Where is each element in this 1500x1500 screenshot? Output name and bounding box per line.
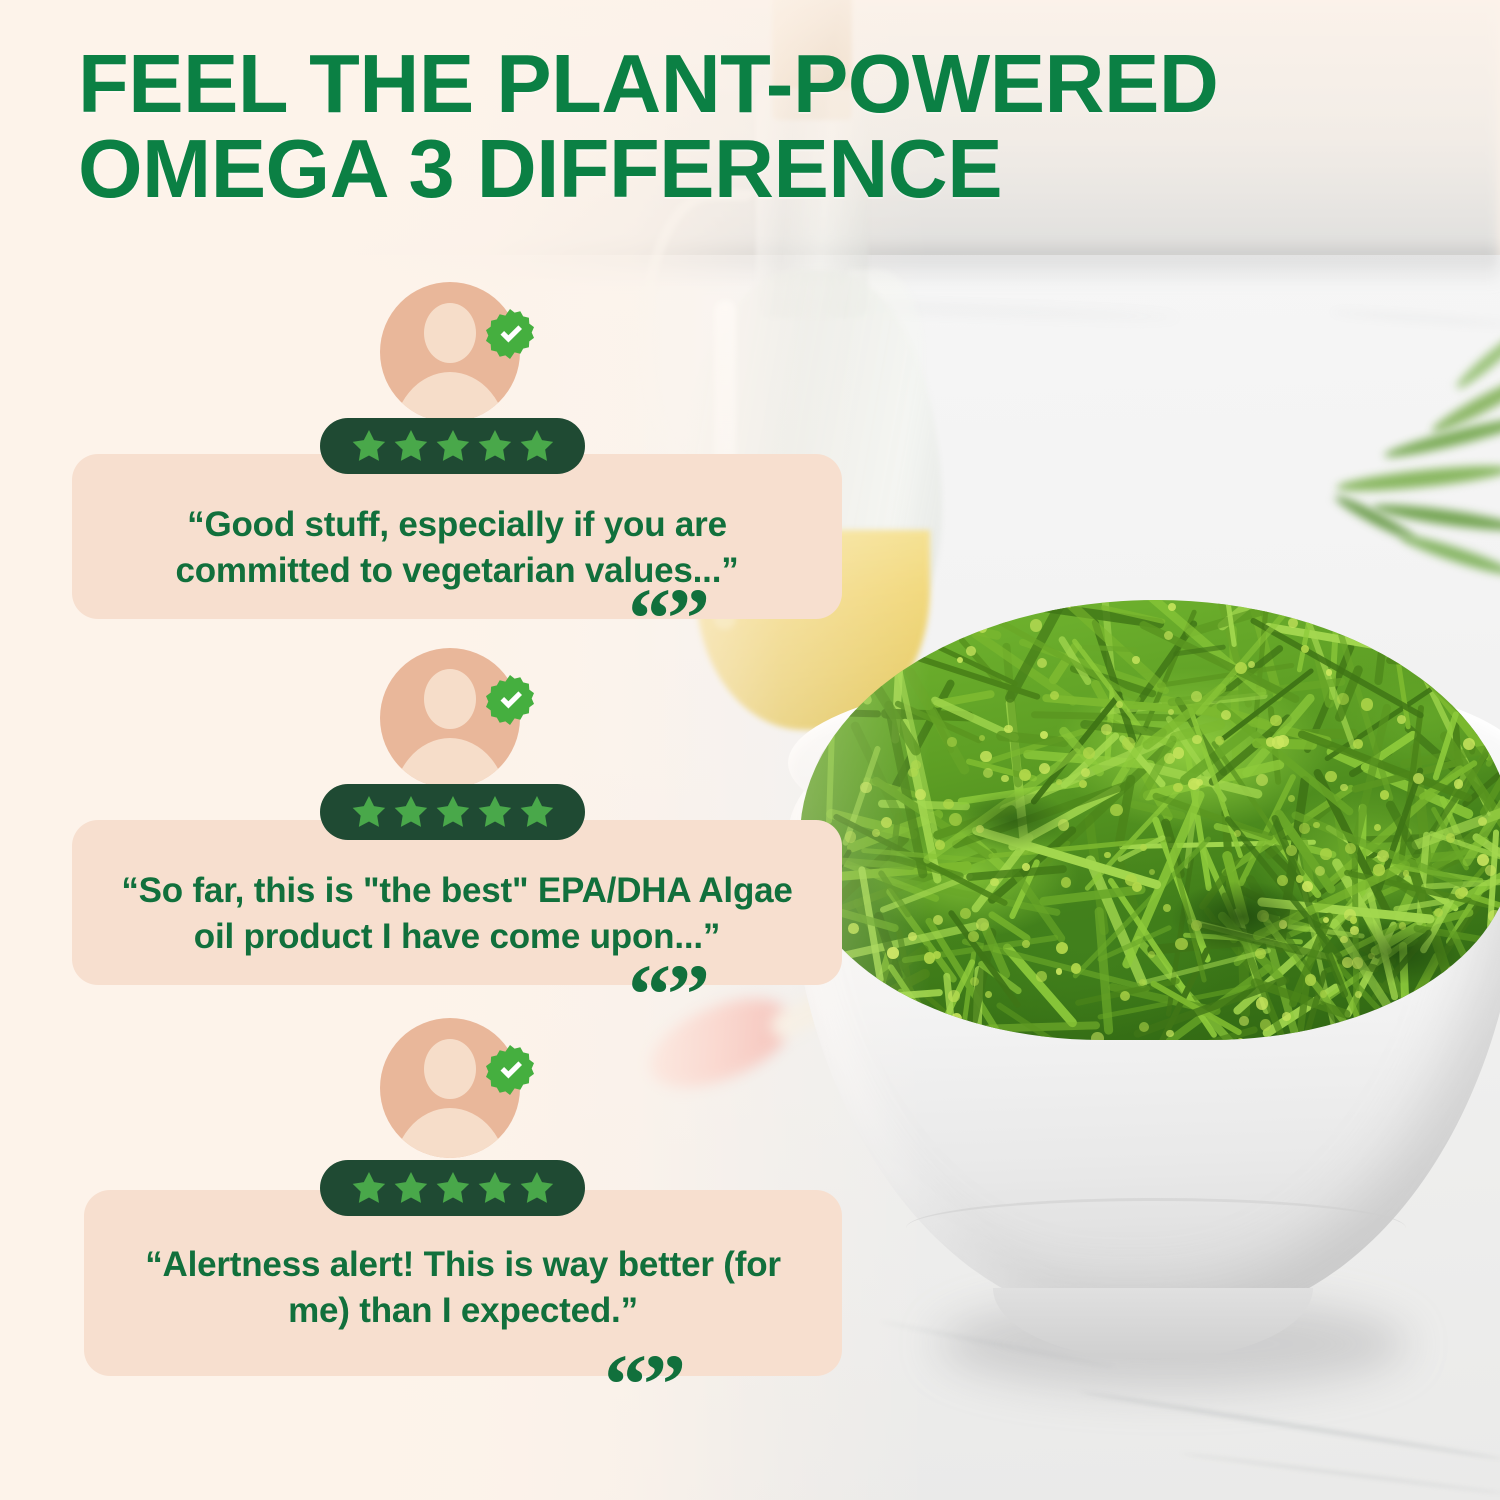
quote-mark-icon: “” xyxy=(628,595,706,642)
sea-bean-bud xyxy=(911,760,921,770)
sea-bean-bud xyxy=(1350,916,1357,923)
sea-bean-bud xyxy=(985,991,992,998)
sea-bean-bud xyxy=(1454,779,1464,789)
sea-bean-bud xyxy=(1237,1038,1244,1040)
avatar-head-shape xyxy=(424,1039,476,1099)
sea-bean-bud xyxy=(1239,1016,1249,1026)
star-icon xyxy=(475,792,515,832)
sea-bean-bud xyxy=(857,680,868,691)
sea-bean-bud xyxy=(1056,942,1068,954)
promo-canvas: FEEL THE PLANT-POWERED OMEGA 3 DIFFERENC… xyxy=(0,0,1500,1500)
avatar-head-shape xyxy=(424,303,476,363)
sea-bean-bud xyxy=(1104,852,1110,858)
sea-bean-bud xyxy=(957,657,963,663)
star-icon xyxy=(475,426,515,466)
star-icon xyxy=(349,792,389,832)
sea-bean-bud xyxy=(968,931,979,942)
sea-bean-bud xyxy=(1016,604,1025,613)
sea-bean-bud xyxy=(1320,990,1327,997)
sea-bean-bud xyxy=(1277,875,1288,886)
star-icon xyxy=(433,1168,473,1208)
review-quote-text: “Alertness alert! This is way better (fo… xyxy=(118,1242,808,1333)
sea-bean-bud xyxy=(1139,1022,1149,1032)
star-icon xyxy=(475,1168,515,1208)
sea-bean-bud xyxy=(1166,1030,1174,1038)
sea-bean-bud xyxy=(1173,783,1183,793)
sea-bean-bud xyxy=(1288,795,1295,802)
sea-bean-bud xyxy=(1373,864,1384,875)
sea-bean-bud xyxy=(1345,843,1356,854)
sea-bean-bud xyxy=(846,667,858,679)
sea-bean-bud xyxy=(1374,824,1382,832)
sea-bean-bud xyxy=(1403,870,1409,876)
sea-bean-bud xyxy=(1173,747,1185,759)
sea-bean-bud xyxy=(848,923,858,933)
sea-bean-bud xyxy=(1221,710,1231,720)
sea-bean-bud xyxy=(1399,922,1406,929)
sea-bean-bud xyxy=(880,1021,890,1031)
sea-bean-bud xyxy=(1079,780,1087,788)
star-icon xyxy=(517,1168,557,1208)
sea-bean-bud xyxy=(1256,997,1268,1009)
sea-bean-bud xyxy=(1266,737,1276,747)
sea-bean-bud xyxy=(1163,904,1171,912)
sea-bean-bud xyxy=(1056,968,1062,974)
sea-bean-bud xyxy=(1321,1035,1331,1040)
sea-bean-bud xyxy=(1377,850,1389,862)
sea-bean-bud xyxy=(1235,662,1247,674)
sea-bean-bud xyxy=(1061,877,1071,887)
star-icon xyxy=(433,792,473,832)
quote-card: “Alertness alert! This is way better (fo… xyxy=(84,1190,842,1376)
quote-mark-icon: “” xyxy=(604,1361,682,1408)
star-icon xyxy=(349,1168,389,1208)
sea-bean-bud xyxy=(887,947,898,958)
sea-bean-bud xyxy=(935,840,945,850)
sea-bean-bud xyxy=(1022,940,1030,948)
sea-bean-bud xyxy=(1337,693,1349,705)
sea-bean-bud xyxy=(1139,979,1146,986)
quote-card: “Good stuff, especially if you are commi… xyxy=(72,454,842,619)
sea-bean-bud xyxy=(933,915,943,925)
sea-bean-bud xyxy=(1478,817,1487,826)
sea-bean-bud xyxy=(1001,775,1008,782)
sea-bean-bud xyxy=(872,829,880,837)
sea-bean-bud xyxy=(1030,619,1043,632)
quote-mark-icon: “” xyxy=(628,971,706,1018)
sea-bean-bud xyxy=(1350,926,1359,935)
sea-bean-bud xyxy=(1066,601,1073,608)
bottle-handle xyxy=(640,190,758,480)
sea-bean-bud xyxy=(1417,1036,1424,1040)
sea-bean-bud xyxy=(1040,731,1048,739)
sea-bean-bud xyxy=(1446,670,1454,678)
sea-bean-bud xyxy=(1340,936,1347,943)
star-icon xyxy=(433,426,473,466)
sea-bean-bud xyxy=(1132,656,1140,664)
sea-bean-bud xyxy=(1081,768,1090,777)
sea-bean-bud xyxy=(1409,646,1418,655)
sea-bean-bud xyxy=(1325,771,1337,783)
sea-bean-bud xyxy=(966,646,976,656)
sea-bean-bud xyxy=(1340,1027,1348,1035)
sea-bean-bud xyxy=(1361,698,1374,711)
sea-bean-bud xyxy=(924,952,936,964)
sea-bean-bud xyxy=(860,782,871,793)
sea-bean-bud xyxy=(1356,618,1365,627)
sea-bean-bud xyxy=(1481,691,1494,704)
sea-bean-bud xyxy=(1058,819,1070,831)
sea-bean-bud xyxy=(980,751,992,763)
sea-bean-bud xyxy=(1353,739,1362,748)
avatar xyxy=(380,648,520,788)
sea-bean-bud xyxy=(806,739,816,749)
sea-bean-bud xyxy=(1037,658,1047,668)
sea-bean-bud xyxy=(1022,863,1030,871)
sea-bean-bud xyxy=(1110,804,1123,817)
sea-bean-bud xyxy=(1019,769,1031,781)
sea-bean-bud xyxy=(920,646,929,655)
star-icon xyxy=(391,792,431,832)
sea-bean-bud xyxy=(1122,737,1135,750)
sea-bean-bud xyxy=(1282,1012,1291,1021)
sea-bean-bud xyxy=(1355,991,1362,998)
sea-bean-bud xyxy=(891,618,899,626)
sea-bean-bud xyxy=(1352,957,1363,968)
sea-bean-bud xyxy=(845,831,856,842)
sea-bean-bud xyxy=(1302,881,1313,892)
star-icon xyxy=(517,426,557,466)
headline-line-2: OMEGA 3 DIFFERENCE xyxy=(78,127,1478,212)
sea-bean-bud xyxy=(1299,823,1310,834)
sea-bean-bud xyxy=(1313,822,1320,829)
sea-bean-bud xyxy=(948,990,960,1002)
avatar-shoulders-shape xyxy=(392,372,508,422)
sea-bean-bud xyxy=(1004,725,1012,733)
sea-bean-bud xyxy=(1140,844,1147,851)
sea-bean-bud xyxy=(983,768,993,778)
sea-bean-bud xyxy=(1192,735,1201,744)
avatar-shoulders-shape xyxy=(392,738,508,788)
verified-check-icon xyxy=(484,1044,536,1096)
sea-bean-bud xyxy=(1260,1019,1271,1030)
sea-bean-bud xyxy=(1488,910,1500,922)
sea-bean-bud xyxy=(960,908,971,919)
sea-bean-bud xyxy=(947,737,956,746)
verified-check-icon xyxy=(484,308,536,360)
sea-bean-bud xyxy=(1305,974,1317,986)
sea-bean-bud xyxy=(1091,1032,1104,1040)
sea-bean-bud xyxy=(800,673,812,685)
headline-line-1: FEEL THE PLANT-POWERED xyxy=(78,37,1218,130)
sea-bean-bud xyxy=(891,991,900,1000)
star-icon xyxy=(391,1168,431,1208)
sea-bean-bud xyxy=(949,813,962,826)
sea-bean-bud xyxy=(926,613,933,620)
sea-bean-bud xyxy=(1288,618,1298,628)
sea-bean-bud xyxy=(976,918,989,931)
star-rating xyxy=(320,418,585,474)
sea-bean-bud xyxy=(978,1034,987,1040)
avatar xyxy=(380,282,520,422)
sea-bean-bud xyxy=(1101,724,1112,735)
sea-bean-bud xyxy=(881,817,892,828)
sea-bean-bud xyxy=(1434,908,1443,917)
star-rating xyxy=(320,1160,585,1216)
sea-bean-bud xyxy=(915,789,926,800)
star-icon xyxy=(517,792,557,832)
verified-check-icon xyxy=(484,674,536,726)
sea-bean-bud xyxy=(1168,603,1176,611)
page-title: FEEL THE PLANT-POWERED OMEGA 3 DIFFERENC… xyxy=(78,42,1478,211)
avatar-head-shape xyxy=(424,669,476,729)
sea-bean-bud xyxy=(965,615,974,624)
sea-bean-bud xyxy=(1446,833,1456,843)
sea-bean-bud xyxy=(1132,882,1142,892)
sea-bean-bud xyxy=(1149,869,1155,875)
sea-bean-bud xyxy=(1453,1016,1460,1023)
sea-bean-bud xyxy=(1296,875,1304,883)
quote-card: “So far, this is "the best" EPA/DHA Alga… xyxy=(72,820,842,985)
sea-bean-bud xyxy=(1036,971,1046,981)
star-rating xyxy=(320,784,585,840)
sea-bean-bud xyxy=(979,735,986,742)
sea-bean-bud xyxy=(1256,774,1268,786)
sea-bean-bud xyxy=(1196,779,1203,786)
sea-bean-bud xyxy=(943,799,953,809)
star-icon xyxy=(391,426,431,466)
sea-bean-bud xyxy=(1320,848,1331,859)
avatar xyxy=(380,1018,520,1158)
avatar-shoulders-shape xyxy=(392,1108,508,1158)
sea-bean-bud xyxy=(1120,991,1130,1001)
bowl-ridge xyxy=(906,1198,1406,1258)
star-icon xyxy=(349,426,389,466)
